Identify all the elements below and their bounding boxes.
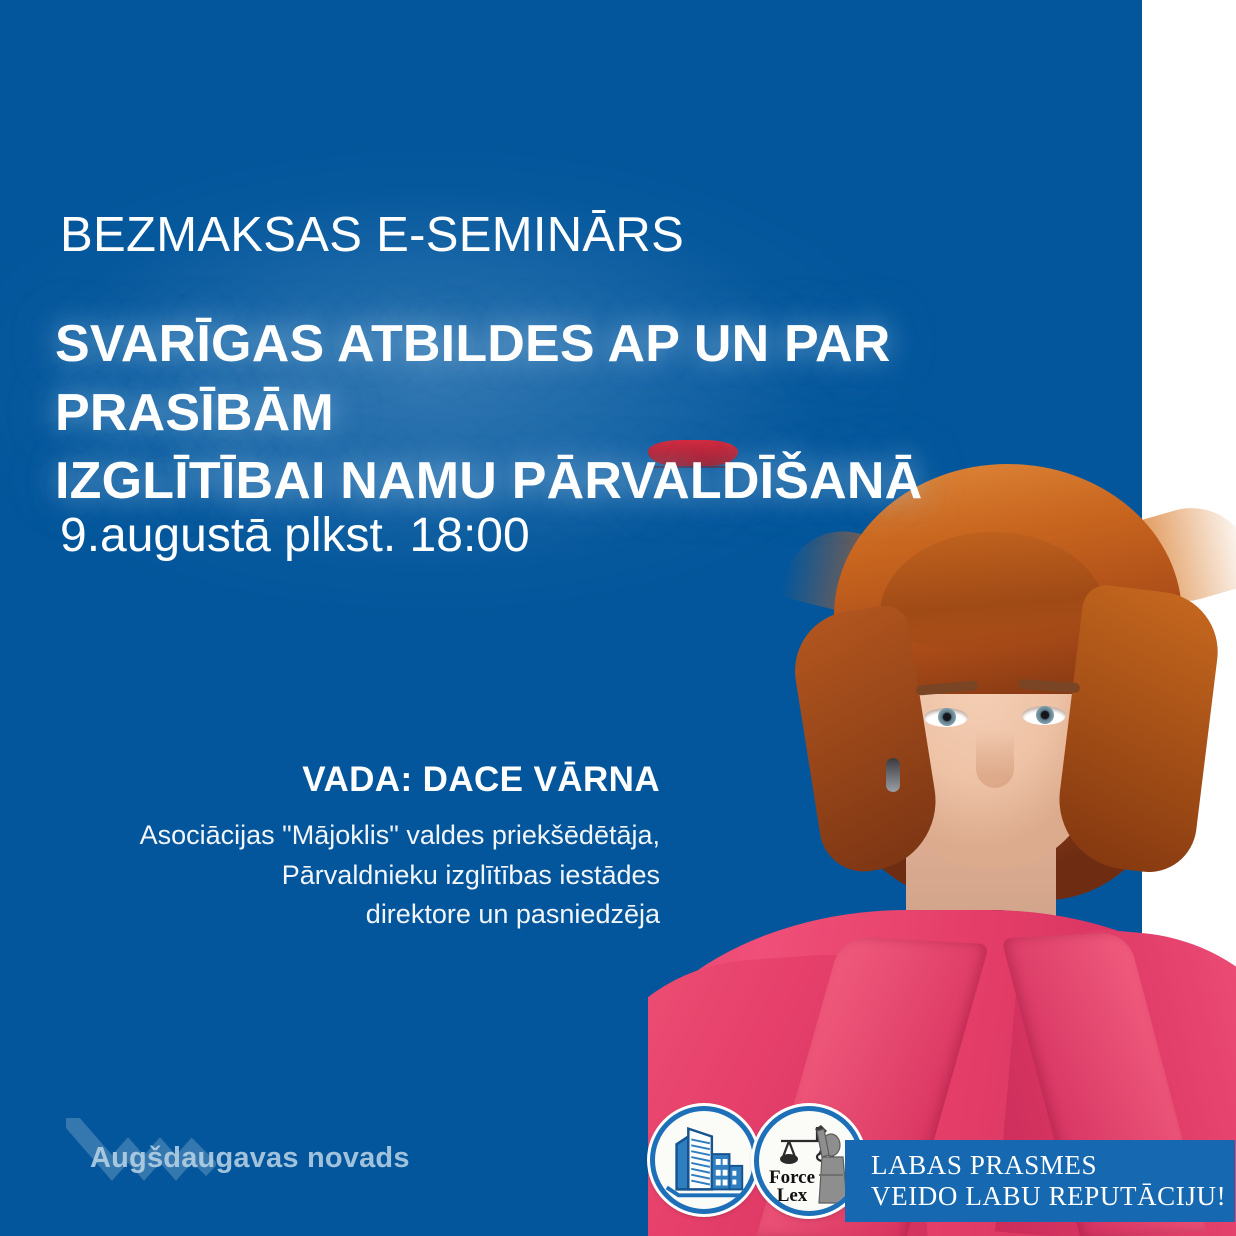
lady-justice-scales-icon: Force Lex bbox=[759, 1111, 859, 1211]
slogan-line-1: LABAS PRASMES bbox=[871, 1150, 1235, 1181]
kicker-text: BEZMAKSAS E-SEMINĀRS bbox=[60, 210, 960, 261]
iris-right bbox=[1036, 706, 1054, 724]
presenter-bio: Asociācijas "Mājoklis" valdes priekšēdēt… bbox=[60, 816, 660, 935]
iris-left bbox=[938, 708, 956, 726]
event-datetime: 9.augustā plkst. 18:00 bbox=[60, 508, 860, 563]
slogan-banner: LABAS PRASMES VEIDO LABU REPUTĀCIJU! bbox=[845, 1140, 1235, 1222]
presenter-block: VADA: DACE VĀRNA Asociācijas "Mājoklis" … bbox=[60, 760, 660, 935]
building-skyscraper-icon bbox=[655, 1111, 753, 1209]
nose bbox=[976, 730, 1014, 788]
poster-canvas: BEZMAKSAS E-SEMINĀRS SVARĪGAS ATBILDES A… bbox=[0, 0, 1236, 1236]
municipality-logo: Augšdaugavas novads bbox=[66, 1118, 486, 1198]
building-badge[interactable] bbox=[650, 1106, 758, 1214]
forcelex-label-lex: Lex bbox=[777, 1185, 808, 1206]
earring bbox=[886, 758, 900, 792]
municipality-name: Augšdaugavas novads bbox=[90, 1142, 410, 1175]
page-title: SVARĪGAS ATBILDES AP UN PAR PRASĪBĀM IZG… bbox=[55, 310, 1115, 516]
presenter-bio-line-2: Pārvaldnieku izglītības iestādes bbox=[60, 856, 660, 896]
presenter-bio-line-1: Asociācijas "Mājoklis" valdes priekšēdēt… bbox=[60, 816, 660, 856]
presenter-name: VADA: DACE VĀRNA bbox=[60, 760, 660, 800]
presenter-bio-line-3: direktore un pasniedzēja bbox=[60, 895, 660, 935]
slogan-line-2: VEIDO LABU REPUTĀCIJU! bbox=[871, 1181, 1235, 1212]
headline-line-1: SVARĪGAS ATBILDES AP UN PAR PRASĪBĀM bbox=[55, 315, 891, 442]
headline-line-2: IZGLĪTĪBAI NAMU PĀRVALDĪŠANĀ bbox=[55, 447, 1115, 516]
